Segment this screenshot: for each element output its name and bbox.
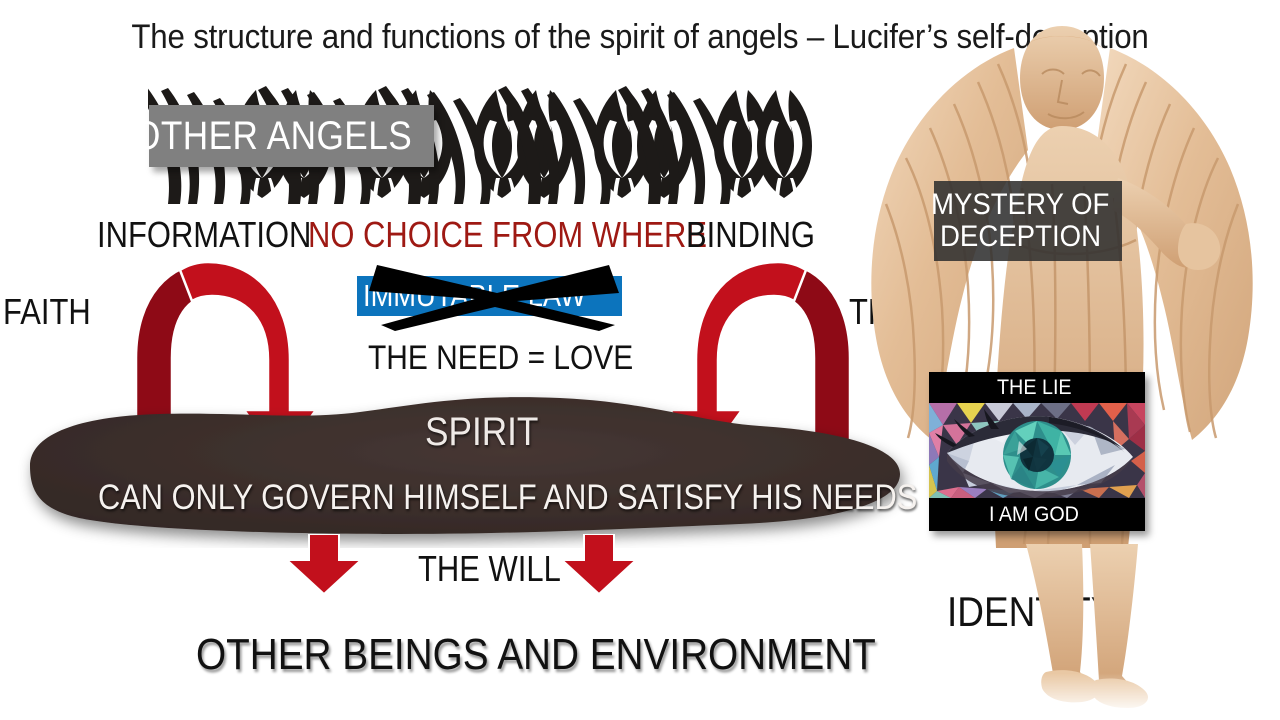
label-other-beings-and-environment: OTHER BEINGS AND ENVIRONMENT <box>196 630 876 680</box>
label-binding: BINDING <box>686 214 815 256</box>
slide-canvas: The structure and functions of the spiri… <box>0 0 1280 720</box>
label-faith: FAITH <box>3 291 91 333</box>
the-lie-panel: THE LIE <box>929 372 1145 531</box>
mystery-line-2: DECEPTION <box>940 221 1101 253</box>
i-am-god-footer: I AM GOD <box>929 498 1145 531</box>
immutable-law-group: IMMUTABLE LAW <box>357 276 622 316</box>
x-strikethrough-icon <box>347 263 637 331</box>
spirit-title: SPIRIT <box>425 410 538 455</box>
arrow-down-icon-right <box>560 534 638 596</box>
the-lie-header-text: THE LIE <box>997 376 1072 400</box>
the-lie-header: THE LIE <box>929 372 1145 403</box>
mystery-of-deception-panel: MYSTERY OF DECEPTION <box>934 181 1122 261</box>
label-information: INFORMATION <box>97 214 311 256</box>
mystery-line-1: MYSTERY OF <box>931 189 1109 221</box>
label-the-will: THE WILL <box>418 548 561 590</box>
label-the-need-love: THE NEED = LOVE <box>368 339 633 378</box>
i-am-god-text: I AM GOD <box>989 503 1079 527</box>
label-no-choice-from-where: NO CHOICE FROM WHERE <box>308 214 707 256</box>
spirit-subtitle: CAN ONLY GOVERN HIMSELF AND SATISFY HIS … <box>98 478 917 518</box>
other-angels-text: OTHER ANGELS <box>133 114 412 159</box>
low-poly-eye-image <box>929 403 1145 498</box>
winged-angel-statue <box>846 8 1280 714</box>
other-angels-label: OTHER ANGELS <box>149 105 434 167</box>
arrow-down-icon-left <box>285 534 363 596</box>
